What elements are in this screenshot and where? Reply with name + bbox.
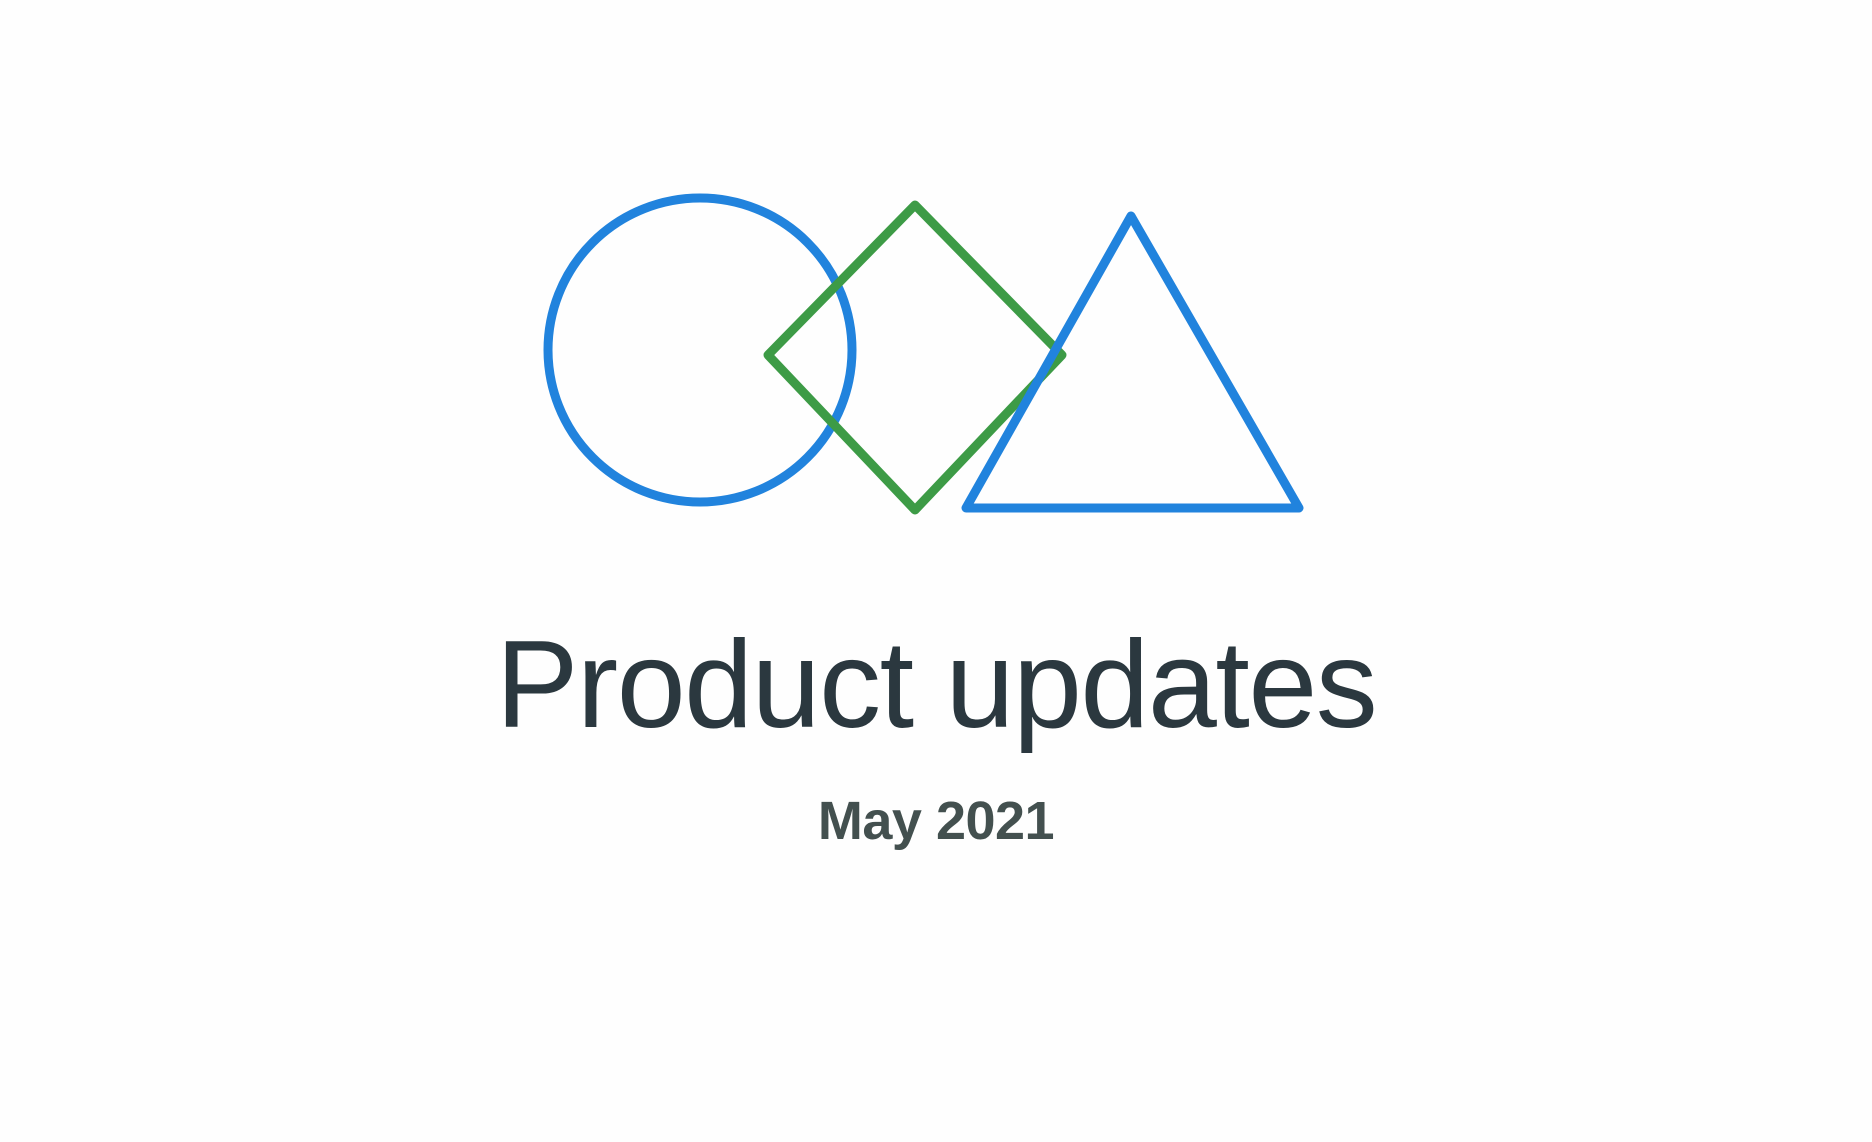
triangle-icon <box>966 216 1299 508</box>
page-subtitle: May 2021 <box>0 792 1872 851</box>
circle-icon <box>548 198 852 502</box>
diamond-icon <box>768 205 1062 510</box>
page-title: Product updates <box>0 620 1872 750</box>
slide-text-block: Product updates May 2021 <box>0 620 1872 852</box>
three-shapes-logo <box>0 0 1872 620</box>
product-updates-slide: Product updates May 2021 <box>0 0 1872 1142</box>
